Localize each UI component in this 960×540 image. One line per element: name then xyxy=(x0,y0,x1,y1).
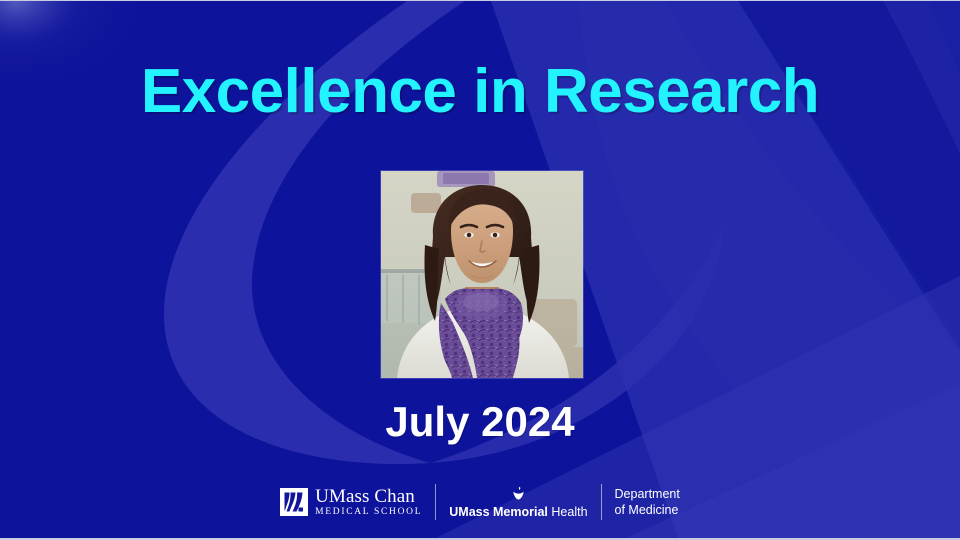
umass-chan-logo: UMass Chan MEDICAL SCHOOL xyxy=(280,480,422,524)
department-of-medicine-logo: Department of Medicine xyxy=(615,480,680,524)
logo-divider-2 xyxy=(601,484,602,520)
umass-memorial-health-word: Health xyxy=(551,505,587,519)
department-line-1: Department xyxy=(615,486,680,503)
presentation-slide: Excellence in Research xyxy=(0,0,960,540)
umass-memorial-wordmark: UMass Memorial Health xyxy=(449,506,587,519)
umass-memorial-health-logo: UMass Memorial Health xyxy=(449,480,587,524)
page-title: Excellence in Research xyxy=(141,59,819,124)
umass-chan-name: UMass Chan xyxy=(315,487,422,506)
umass-memorial-tulip-icon xyxy=(510,486,527,503)
department-line-2: of Medicine xyxy=(615,502,680,519)
headshot-photo xyxy=(381,171,583,378)
logo-lockup: UMass Chan MEDICAL SCHOOL UMass Memorial… xyxy=(0,479,960,525)
umass-chan-subtitle: MEDICAL SCHOOL xyxy=(315,508,422,518)
logo-divider-1 xyxy=(435,484,436,520)
umass-chan-shield-icon xyxy=(280,488,308,516)
slide-title-block: Excellence in Research xyxy=(0,59,960,124)
slide-date-block: July 2024 xyxy=(0,399,960,445)
slide-date: July 2024 xyxy=(385,399,574,445)
umass-memorial-name: UMass Memorial xyxy=(449,505,548,519)
portrait-photo-frame xyxy=(381,171,583,378)
